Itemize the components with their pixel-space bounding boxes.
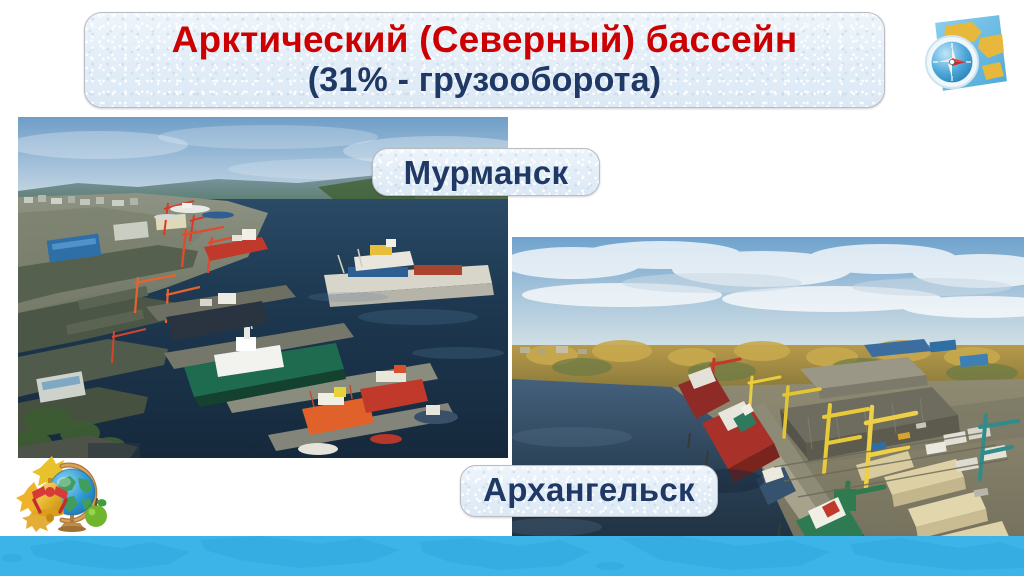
photo-arkhangelsk: © Юрий Бесчастнов: [512, 237, 1024, 576]
caption-arkhangelsk: Архангельск: [460, 465, 718, 517]
bottom-decorative-band: [0, 536, 1024, 576]
caption-arkhangelsk-label: Архангельск: [464, 473, 714, 506]
slide-title-line-1: Арктический (Северный) бассейн: [172, 21, 798, 60]
slide-title-plate: Арктический (Северный) бассейн (31% - гр…: [84, 12, 885, 108]
school-decoration-glyph: [16, 454, 112, 532]
map-compass-glyph: [916, 4, 1016, 104]
caption-murmansk: Мурманск: [372, 148, 600, 196]
caption-murmansk-label: Мурманск: [404, 156, 569, 189]
globe-bell-apple-icon: [16, 454, 112, 532]
slide-title-line-2: (31% - грузооборота): [308, 62, 661, 99]
photo-arkhangelsk-image: [512, 237, 1024, 576]
world-map-band-icon: [0, 536, 1024, 576]
map-compass-icon: [916, 4, 1016, 104]
slide-canvas: © Юрий Бесчастнов Арктический (Северный)…: [0, 0, 1024, 576]
